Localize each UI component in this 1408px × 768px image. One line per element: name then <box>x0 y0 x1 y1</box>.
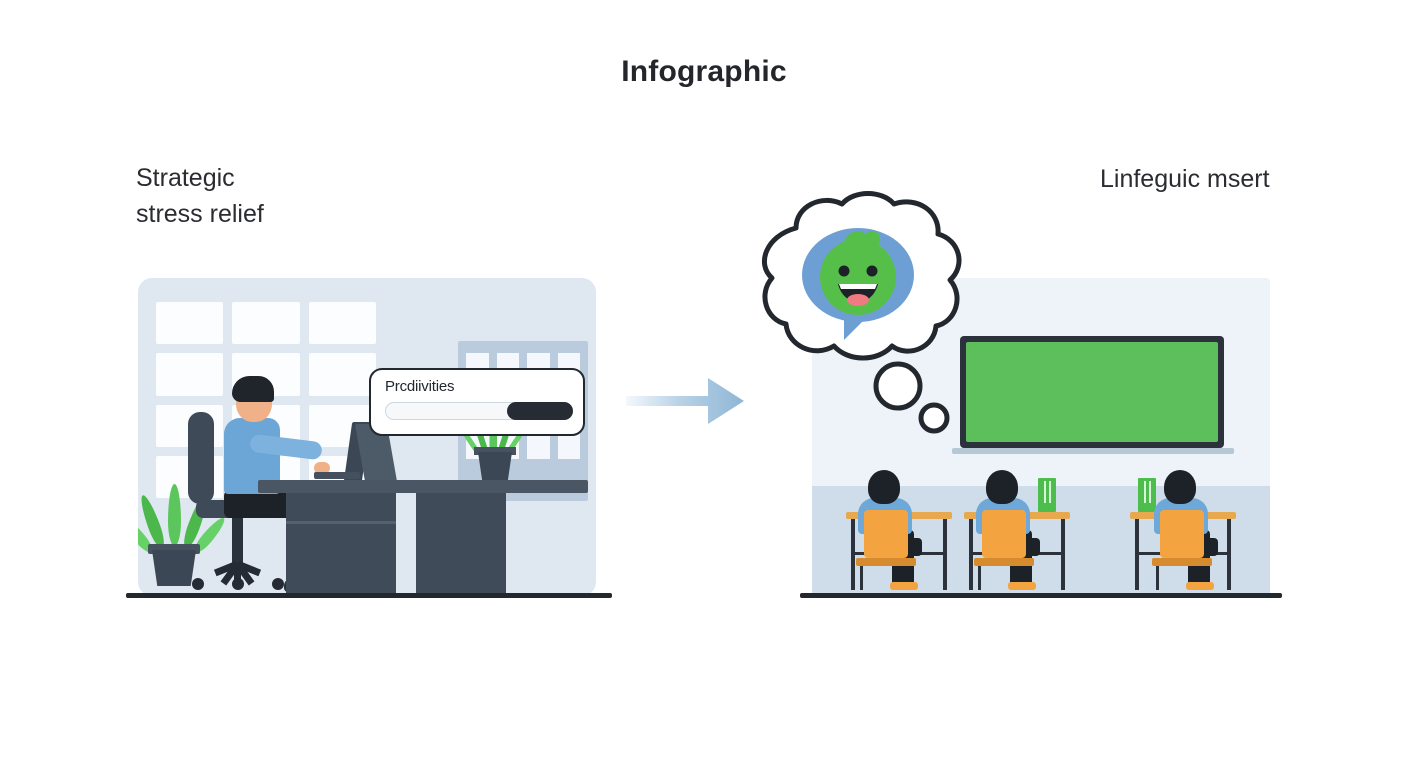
desk-top <box>258 480 588 493</box>
caption-right: Linfeguic msert <box>1100 161 1270 197</box>
desk-book <box>1138 478 1156 512</box>
student-head <box>986 470 1018 504</box>
desk-drawer-line <box>286 521 396 524</box>
progress-card-label: Prcdiivities <box>385 378 569 395</box>
student-head <box>868 470 900 504</box>
chair-caster <box>232 578 244 590</box>
thought-bubble <box>726 188 986 438</box>
student-head <box>1164 470 1196 504</box>
chair-leg <box>978 564 981 590</box>
desk-pedestal <box>286 493 396 596</box>
chalkboard <box>960 336 1224 448</box>
chalkboard-ledge <box>952 448 1234 454</box>
chair-backrest <box>1160 510 1204 558</box>
chair-seat <box>856 558 916 566</box>
chair-seat <box>1152 558 1212 566</box>
ground-line-right <box>800 593 1282 598</box>
chair-backrest <box>982 510 1026 558</box>
window-pane <box>309 353 376 395</box>
thought-dot-large <box>876 364 920 408</box>
student-shoe <box>1186 582 1214 590</box>
progress-slider-knob[interactable] <box>507 402 573 420</box>
desk-pedestal <box>416 493 506 596</box>
chair-backrest <box>188 412 214 504</box>
progress-card[interactable]: Prcdiivities <box>369 368 585 436</box>
ground-line-left <box>126 593 612 598</box>
desk-plant-pot <box>478 452 512 480</box>
window-pane <box>156 353 223 395</box>
thought-dot-small <box>921 405 947 431</box>
window-pane <box>156 302 223 344</box>
progress-slider-track[interactable] <box>385 402 573 420</box>
chair-seat <box>974 558 1034 566</box>
caption-left-line2: stress relief <box>136 196 264 232</box>
chair-caster <box>192 578 204 590</box>
caption-left: Strategic stress relief <box>136 160 264 233</box>
chair-post <box>232 516 243 568</box>
page-title: Infographic <box>0 55 1408 89</box>
student-shoe <box>890 582 918 590</box>
desk-book <box>1038 478 1056 512</box>
student-shoe <box>1008 582 1036 590</box>
chair-caster <box>272 578 284 590</box>
keyboard <box>314 472 360 479</box>
chair-leg <box>1156 564 1159 590</box>
office-scene <box>138 278 596 596</box>
window-pane <box>232 302 299 344</box>
chair-leg <box>860 564 863 590</box>
caption-left-line1: Strategic <box>136 160 264 196</box>
chalkboard-surface <box>966 342 1218 442</box>
window-pane <box>309 302 376 344</box>
chair-backrest <box>864 510 908 558</box>
worker-hair <box>232 376 274 402</box>
